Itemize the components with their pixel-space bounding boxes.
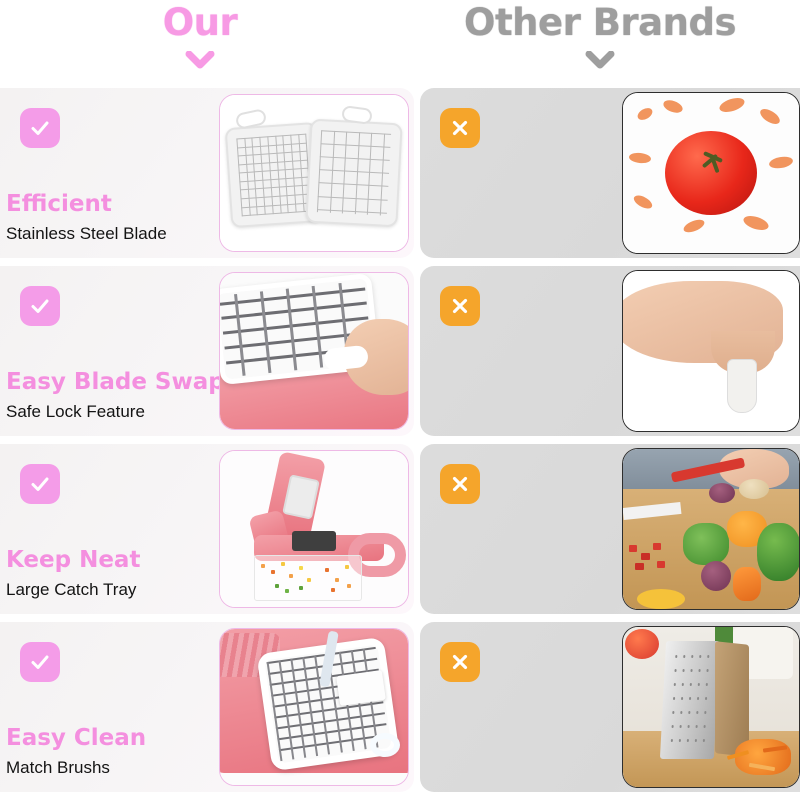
ours-product-image [219, 628, 409, 786]
check-icon [20, 642, 60, 682]
ours-cell: Easy Blade Swap Safe Lock Feature [0, 266, 414, 436]
ours-cell: Efficient Stainless Steel Blade [0, 88, 414, 258]
comparison-row: Efficient Stainless Steel Blade [0, 88, 800, 266]
ours-product-image [219, 450, 409, 608]
header-column-ours: Our [0, 0, 400, 88]
comparison-header: Our Other Brands [0, 0, 800, 88]
ours-cell: Easy Clean Match Brushs [0, 622, 414, 792]
theirs-cell: Inefficient Blunt blades [420, 88, 800, 258]
comparison-rows: Efficient Stainless Steel Blade [0, 88, 800, 800]
ours-cell: Keep Neat Large Catch Tray [0, 444, 414, 614]
ours-product-image [219, 94, 409, 252]
theirs-cell: A Mess No container [420, 444, 800, 614]
theirs-product-image [622, 448, 800, 610]
ours-heading: Our [163, 4, 238, 41]
header-column-others: Other Brands [400, 0, 800, 88]
check-icon [20, 108, 60, 148]
ours-product-image [219, 272, 409, 430]
theirs-cell: No Safe Dangerous to use [420, 266, 800, 436]
cross-icon [440, 642, 480, 682]
theirs-product-image [622, 626, 800, 788]
cross-icon [440, 108, 480, 148]
others-heading: Other Brands [464, 4, 736, 41]
chevron-down-icon [585, 51, 615, 69]
check-icon [20, 464, 60, 504]
theirs-product-image [622, 270, 800, 432]
cross-icon [440, 286, 480, 326]
comparison-row: Keep Neat Large Catch Tray [0, 444, 800, 622]
comparison-row: Easy Clean Match Brushs [0, 622, 800, 800]
comparison-row: Easy Blade Swap Safe Lock Feature [0, 266, 800, 444]
cross-icon [440, 464, 480, 504]
theirs-product-image [622, 92, 800, 254]
comparison-chart: Our Other Brands Efficient [0, 0, 800, 800]
check-icon [20, 286, 60, 326]
theirs-cell: Difficult Clean No tools [420, 622, 800, 792]
chevron-down-icon [185, 51, 215, 69]
